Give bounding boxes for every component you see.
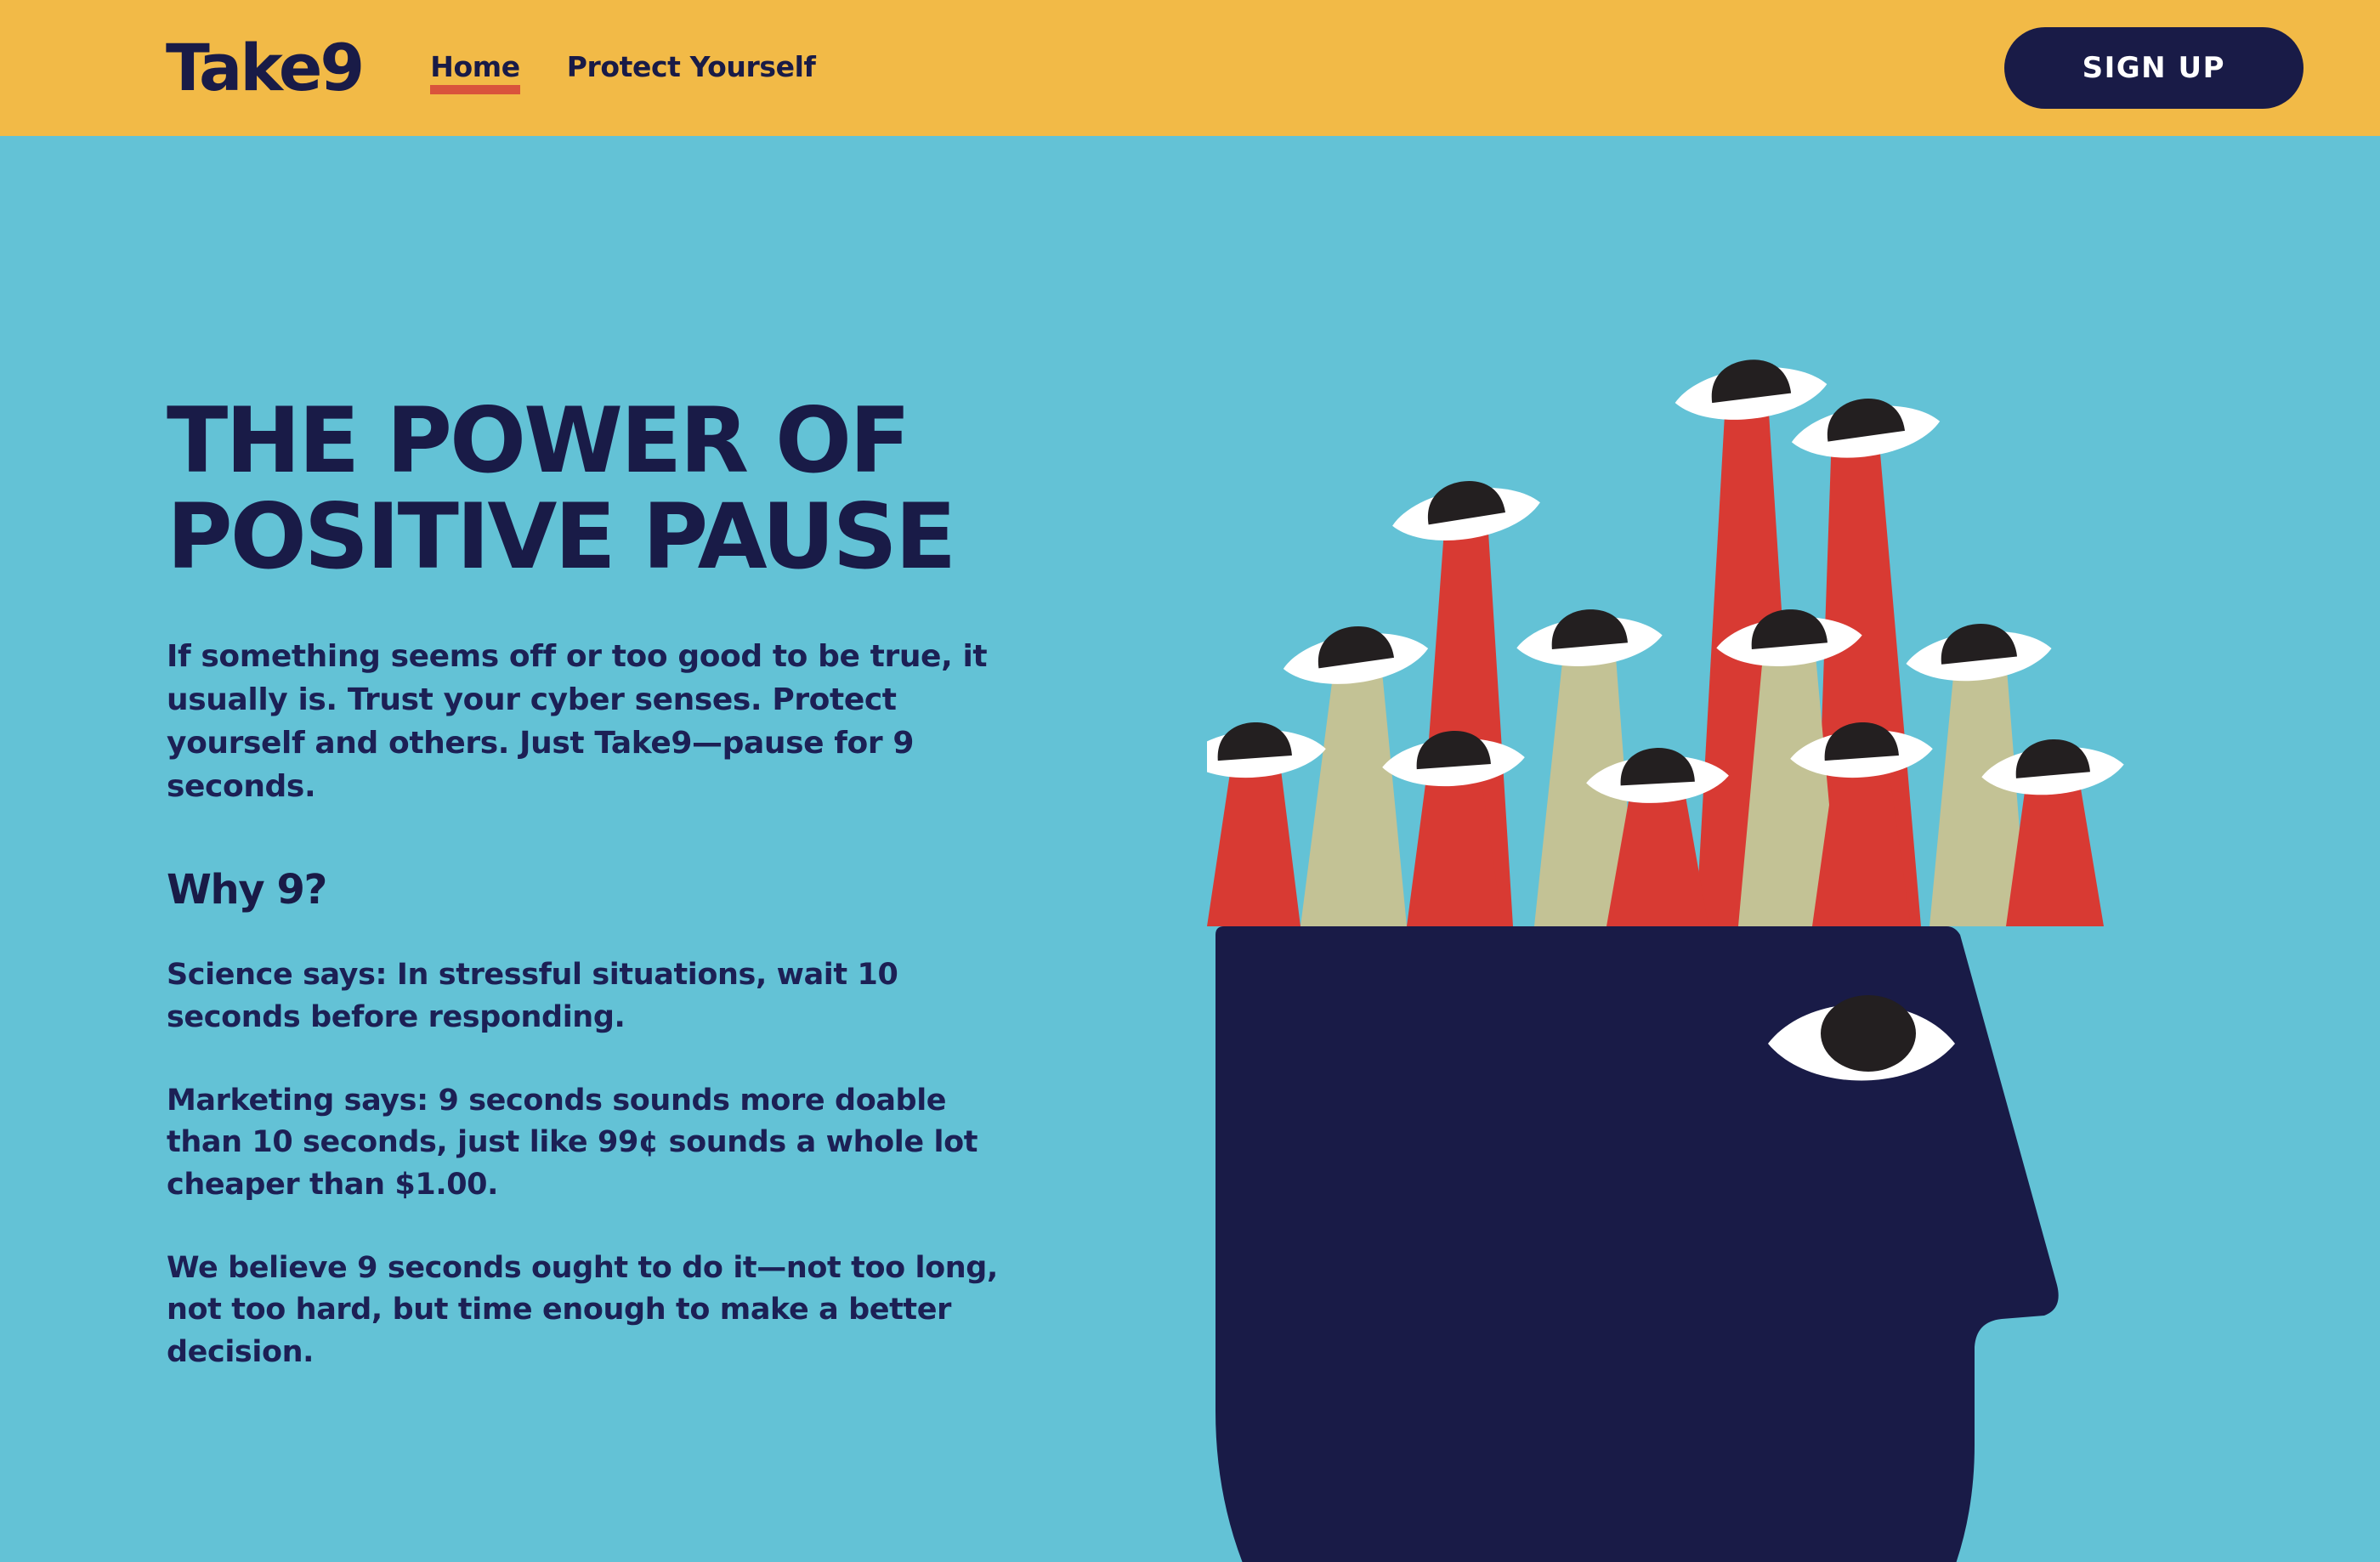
why-nine-heading: Why 9? <box>167 866 1051 914</box>
stalk-eye-2-icon <box>1787 388 1943 467</box>
stalk-eye-4-icon <box>1279 617 1432 693</box>
nav-item-protect-yourself[interactable]: Protect Yourself <box>567 50 816 87</box>
page-title: THE POWER OF POSITIVE PAUSE <box>167 393 1051 586</box>
stalk-eye-3-icon <box>1387 470 1544 550</box>
stalk-eye-8-icon <box>1207 717 1328 782</box>
nav-item-home[interactable]: Home <box>430 50 519 87</box>
eye-stalk-front-far-left <box>1207 756 1300 926</box>
eye-stalk-mid-left-khaki <box>1300 663 1407 926</box>
headline-line-2: POSITIVE PAUSE <box>167 484 954 589</box>
site-header: Take9 Home Protect Yourself SIGN UP <box>0 0 2380 136</box>
stalk-eye-5-icon <box>1514 603 1664 672</box>
sign-up-button[interactable]: SIGN UP <box>2004 27 2303 109</box>
paragraph-marketing: Marketing says: 9 seconds sounds more do… <box>167 1080 1017 1207</box>
logo-take9[interactable]: Take9 <box>166 36 362 100</box>
hero-section: THE POWER OF POSITIVE PAUSE If something… <box>0 136 2380 1562</box>
headline-line-1: THE POWER OF <box>167 388 909 493</box>
head-silhouette <box>1215 926 2059 1562</box>
paragraph-science: Science says: In stressful situations, w… <box>167 954 1017 1039</box>
stalk-eye-9-icon <box>1380 726 1527 790</box>
main-nav: Home Protect Yourself <box>430 50 815 87</box>
hero-copy: THE POWER OF POSITIVE PAUSE If something… <box>167 393 1051 1374</box>
page-root: Take9 Home Protect Yourself SIGN UP THE … <box>0 0 2380 1562</box>
paragraph-belief: We believe 9 seconds ought to do it—not … <box>167 1248 1017 1374</box>
stalk-eye-1-icon <box>1671 351 1830 428</box>
hero-illustration <box>1207 340 2184 1562</box>
hero-lede: If something seems off or too good to be… <box>167 635 1004 808</box>
stalk-eye-7-icon <box>1903 616 2054 688</box>
eye-stalk-front-far-right <box>2006 773 2104 926</box>
